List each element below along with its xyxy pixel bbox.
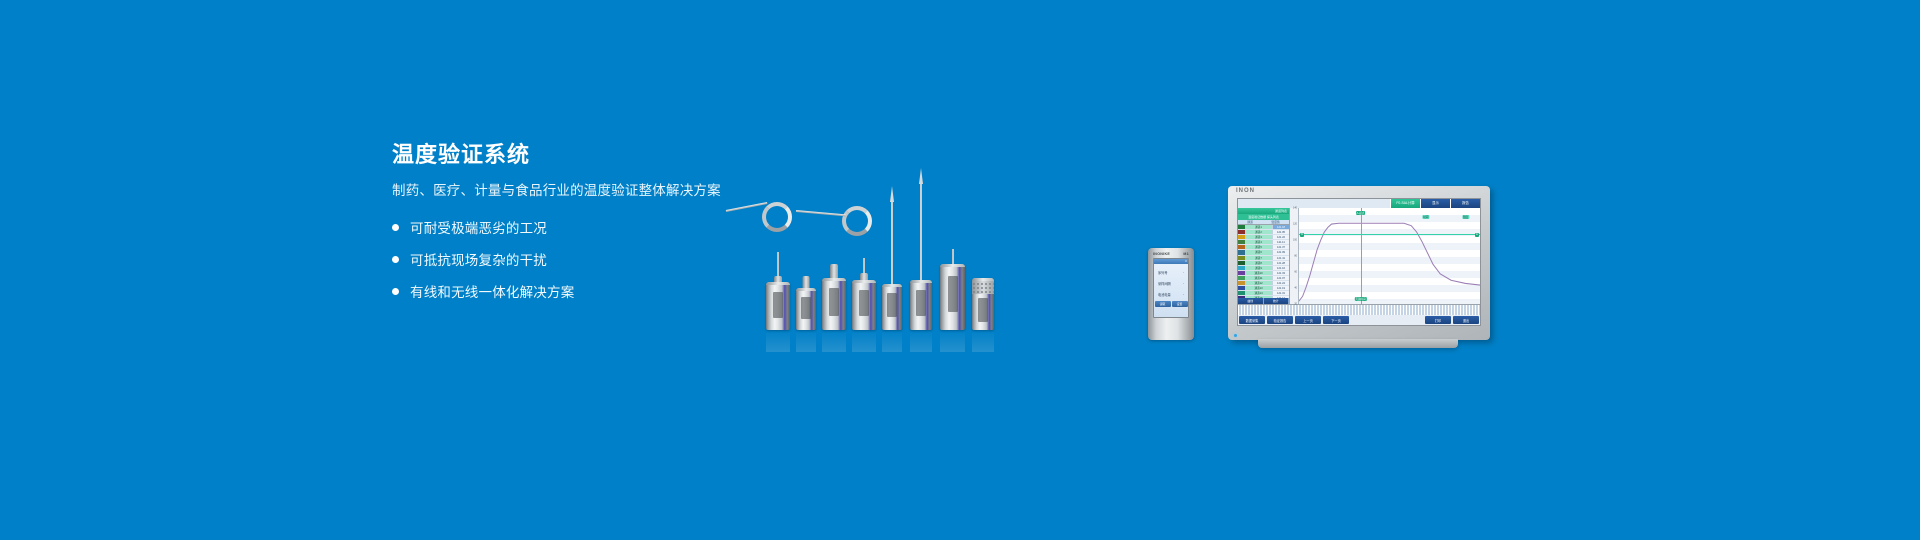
mesh-filter-cap-icon: [972, 278, 994, 294]
sensor-value: 121.07: [1272, 276, 1289, 280]
toolbar-display-button[interactable]: 显示: [1420, 199, 1450, 208]
feature-item-1: 可耐受极端恶劣的工况: [392, 217, 752, 237]
logger-label: [829, 288, 839, 316]
chart-horizontal-scrollbar[interactable]: [1238, 304, 1480, 315]
sensor-color-swatch: [1238, 256, 1245, 260]
sensor-color-swatch: [1238, 250, 1245, 254]
chart-hline-left-handle[interactable]: B: [1300, 233, 1304, 237]
feature-item-2: 可抵抗现场复杂的干扰: [392, 249, 752, 269]
logger-label: [978, 298, 988, 322]
column-header-value: 温度值: [1271, 220, 1279, 224]
bottom-acquire-button[interactable]: 数据采集: [1239, 316, 1265, 324]
sensor-name: 通道4: [1245, 240, 1272, 244]
y-axis-tick: 40: [1294, 287, 1297, 290]
logger-needle-long: [910, 280, 932, 330]
monitor-brand-label: INON: [1236, 188, 1255, 194]
logger-neck: [860, 273, 868, 280]
logger-neck: [774, 276, 782, 282]
handheld-titlebar: ✕: [1154, 259, 1188, 264]
sensor-color-swatch: [1238, 245, 1245, 249]
y-axis-tick: 60: [1294, 271, 1297, 274]
sensor-color-swatch: [1238, 266, 1245, 270]
software-toolbar-top: F0-SAL计算 显示 报告: [1238, 199, 1480, 208]
validation-software-monitor: INON F0-SAL计算 显示 报告 通道列表 温度验证数据 探头列表 通: [1228, 186, 1490, 340]
handheld-brand-label: INONIKE: [1153, 252, 1170, 256]
chart-hline-right-handle[interactable]: E: [1475, 233, 1479, 237]
logger-coil-probe-2: [822, 278, 846, 330]
sensor-value: 121.16: [1272, 266, 1289, 270]
software-body: 通道列表 温度验证数据 探头列表 通道 温度值 通道1121.18通道2121.…: [1238, 208, 1480, 304]
sensor-name: 通道13: [1245, 286, 1272, 290]
monitor-bezel: INON F0-SAL计算 显示 报告 通道列表 温度验证数据 探头列表 通: [1228, 186, 1490, 340]
sensor-rows[interactable]: 通道1121.18通道2121.05通道3121.22通道4121.11通道51…: [1238, 225, 1289, 298]
handheld-row-value: -: [1183, 270, 1184, 275]
handheld-row-label: 序列号: [1158, 270, 1168, 275]
sensor-color-swatch: [1238, 235, 1245, 239]
sensor-value: 121.05: [1272, 230, 1289, 234]
toolbar-spacer: [1238, 199, 1390, 208]
product-group: [720, 110, 1220, 330]
bottom-print-button[interactable]: 打印: [1425, 316, 1451, 324]
bullet-dot-icon: [392, 288, 399, 295]
y-axis-tick: 140: [1293, 207, 1297, 210]
chart-right-label-temp: 温度: [1462, 215, 1469, 219]
sensor-value: 121.24: [1272, 281, 1289, 285]
handheld-row-label: 采样间隔: [1158, 281, 1171, 286]
sensor-color-swatch: [1238, 261, 1245, 265]
monitor-power-led-icon: [1234, 334, 1237, 337]
logger-reflection: [910, 330, 932, 352]
handheld-brand-row: INONIKE M1: [1151, 251, 1191, 256]
chart-y-axis: 14012010080604020: [1290, 208, 1299, 304]
handheld-reader[interactable]: INONIKE M1 ✕ 序列号 - 采样间隔 - 电池电量 - 读取 设置: [1148, 248, 1194, 340]
sensor-value: 121.41: [1272, 256, 1289, 260]
bullet-dot-icon: [392, 224, 399, 231]
handheld-row-value: -: [1183, 292, 1184, 297]
handheld-row-label: 电池电量: [1158, 292, 1171, 297]
y-axis-tick: 20: [1294, 303, 1297, 306]
chart-curve-svg: [1299, 208, 1480, 304]
chart-bottom-marker-label[interactable]: 灭菌时间: [1354, 297, 1366, 301]
needle-probe-icon: [891, 202, 893, 284]
logger-label: [887, 293, 897, 317]
software-toolbar-bottom: 数据采集 验证报告 上一页 下一页 打印 退出: [1238, 315, 1480, 325]
y-axis-tick: 100: [1293, 239, 1297, 242]
handheld-screen: ✕ 序列号 - 采样间隔 - 电池电量 - 读取 设置: [1153, 258, 1189, 318]
handheld-model-label: M1: [1183, 252, 1189, 256]
logger-label: [859, 290, 869, 316]
probe-stem: [952, 249, 954, 264]
sensor-name: 通道11: [1245, 276, 1272, 280]
logger-coil-probe-1: [766, 282, 790, 330]
page-title: 温度验证系统: [392, 140, 752, 170]
logger-neck: [803, 276, 810, 288]
banner-text-block: 温度验证系统 制药、医疗、计量与食品行业的温度验证整体解决方案 可耐受极端恶劣的…: [392, 140, 752, 313]
software-screen: F0-SAL计算 显示 报告 通道列表 温度验证数据 探头列表 通道 温度值 通…: [1237, 198, 1481, 326]
sensor-value: 121.19: [1272, 286, 1289, 290]
logger-tall-pin: [940, 264, 965, 330]
logger-needle-short: [882, 284, 902, 330]
bottom-next-page-button[interactable]: 下一页: [1323, 316, 1349, 324]
sensor-value: 121.31: [1272, 291, 1289, 295]
sensor-color-swatch: [1238, 281, 1245, 285]
sensor-value: 121.33: [1272, 271, 1289, 275]
sensor-name: 通道2: [1245, 230, 1272, 234]
handheld-row: 序列号 -: [1154, 270, 1188, 275]
sensor-color-swatch: [1238, 225, 1245, 229]
chart-vline-annotation: [1361, 208, 1362, 304]
handheld-row: 电池电量 -: [1154, 292, 1188, 297]
sensor-name: 通道10: [1245, 271, 1272, 275]
handheld-row-value: -: [1183, 281, 1184, 286]
chart-right-label-time: 时间: [1422, 215, 1429, 219]
logger-neck: [830, 264, 838, 278]
sensor-name: 通道14: [1245, 291, 1272, 295]
sensor-color-swatch: [1238, 286, 1245, 290]
toolbar-report-button[interactable]: 报告: [1450, 199, 1480, 208]
sensor-name: 通道8: [1245, 261, 1272, 265]
coil-probe-icon: [842, 206, 872, 236]
sensor-name: 通道7: [1245, 256, 1272, 260]
feature-item-3: 有线和无线一体化解决方案: [392, 281, 752, 301]
sensor-name: 通道6: [1245, 250, 1272, 254]
handheld-row: 采样间隔 -: [1154, 281, 1188, 286]
handheld-setup-button[interactable]: 设置: [1172, 301, 1188, 307]
sensor-name: 通道12: [1245, 281, 1272, 285]
logger-label: [916, 290, 926, 316]
chart-top-marker-label[interactable]: A-起点: [1356, 211, 1366, 215]
bottom-report-button[interactable]: 验证报告: [1267, 316, 1293, 324]
sensor-value: 121.11: [1272, 240, 1289, 244]
sensor-name: 通道1: [1245, 225, 1272, 229]
banner-subtitle: 制药、医疗、计量与食品行业的温度验证整体解决方案: [392, 181, 752, 201]
handheld-close-icon[interactable]: ✕: [1185, 260, 1187, 263]
sensor-value: 121.37: [1272, 245, 1289, 249]
bullet-dot-icon: [392, 256, 399, 263]
monitor-stand: [1258, 339, 1458, 348]
feature-label: 有线和无线一体化解决方案: [410, 281, 574, 301]
product-banner: 温度验证系统 制药、医疗、计量与食品行业的温度验证整体解决方案 可耐受极端恶劣的…: [0, 0, 1920, 540]
sensor-value: 121.18: [1272, 225, 1289, 229]
toolbar-f0sal-button[interactable]: F0-SAL计算: [1390, 199, 1420, 208]
feature-label: 可耐受极端恶劣的工况: [410, 217, 547, 237]
sensor-list-panel: 通道列表 温度验证数据 探头列表 通道 温度值 通道1121.18通道2121.…: [1238, 208, 1290, 304]
bottom-prev-page-button[interactable]: 上一页: [1295, 316, 1321, 324]
logger-reflection: [852, 330, 876, 352]
sensor-name: 通道5: [1245, 245, 1272, 249]
toolbar-spacer: [1350, 315, 1424, 325]
needle-probe-icon: [920, 184, 922, 280]
logger-reflection: [822, 330, 846, 352]
coil-probe-wire: [726, 202, 768, 212]
handheld-read-button[interactable]: 读取: [1155, 301, 1171, 307]
logger-small-1: [796, 288, 816, 330]
logger-mesh-cap: [972, 278, 994, 330]
sensor-color-swatch: [1238, 291, 1245, 295]
sensor-value: 121.09: [1272, 250, 1289, 254]
temperature-chart: 14012010080604020 B E A-起点 灭菌时间: [1290, 208, 1480, 304]
sensor-color-swatch: [1238, 271, 1245, 275]
logger-reflection: [766, 330, 790, 352]
logger-label: [801, 297, 811, 319]
coil-probe-wire: [796, 210, 846, 216]
sensor-color-swatch: [1238, 276, 1245, 280]
sensor-color-swatch: [1238, 230, 1245, 234]
sensor-color-swatch: [1238, 240, 1245, 244]
logger-medium-1: [852, 280, 876, 330]
y-axis-tick: 120: [1293, 223, 1297, 226]
bottom-exit-button[interactable]: 退出: [1453, 316, 1479, 324]
logger-reflection: [796, 330, 816, 352]
logger-reflection: [882, 330, 902, 352]
logger-reflection: [972, 330, 994, 352]
chart-hline-annotation: B E: [1299, 234, 1480, 235]
handheld-key-row: 读取 设置: [1154, 301, 1188, 307]
chart-plot-area[interactable]: B E A-起点 灭菌时间 时间 温度: [1299, 208, 1480, 304]
sensor-value: 121.28: [1272, 261, 1289, 265]
sensor-name: 通道9: [1245, 266, 1272, 270]
sensor-value: 121.22: [1272, 235, 1289, 239]
logger-label: [948, 276, 958, 312]
feature-label: 可抵抗现场复杂的干扰: [410, 249, 547, 269]
y-axis-tick: 80: [1294, 255, 1297, 258]
sensor-name: 通道3: [1245, 235, 1272, 239]
coil-probe-icon: [762, 202, 792, 232]
logger-label: [773, 292, 783, 318]
column-header-channel: 通道: [1247, 220, 1253, 224]
logger-reflection: [940, 330, 965, 352]
